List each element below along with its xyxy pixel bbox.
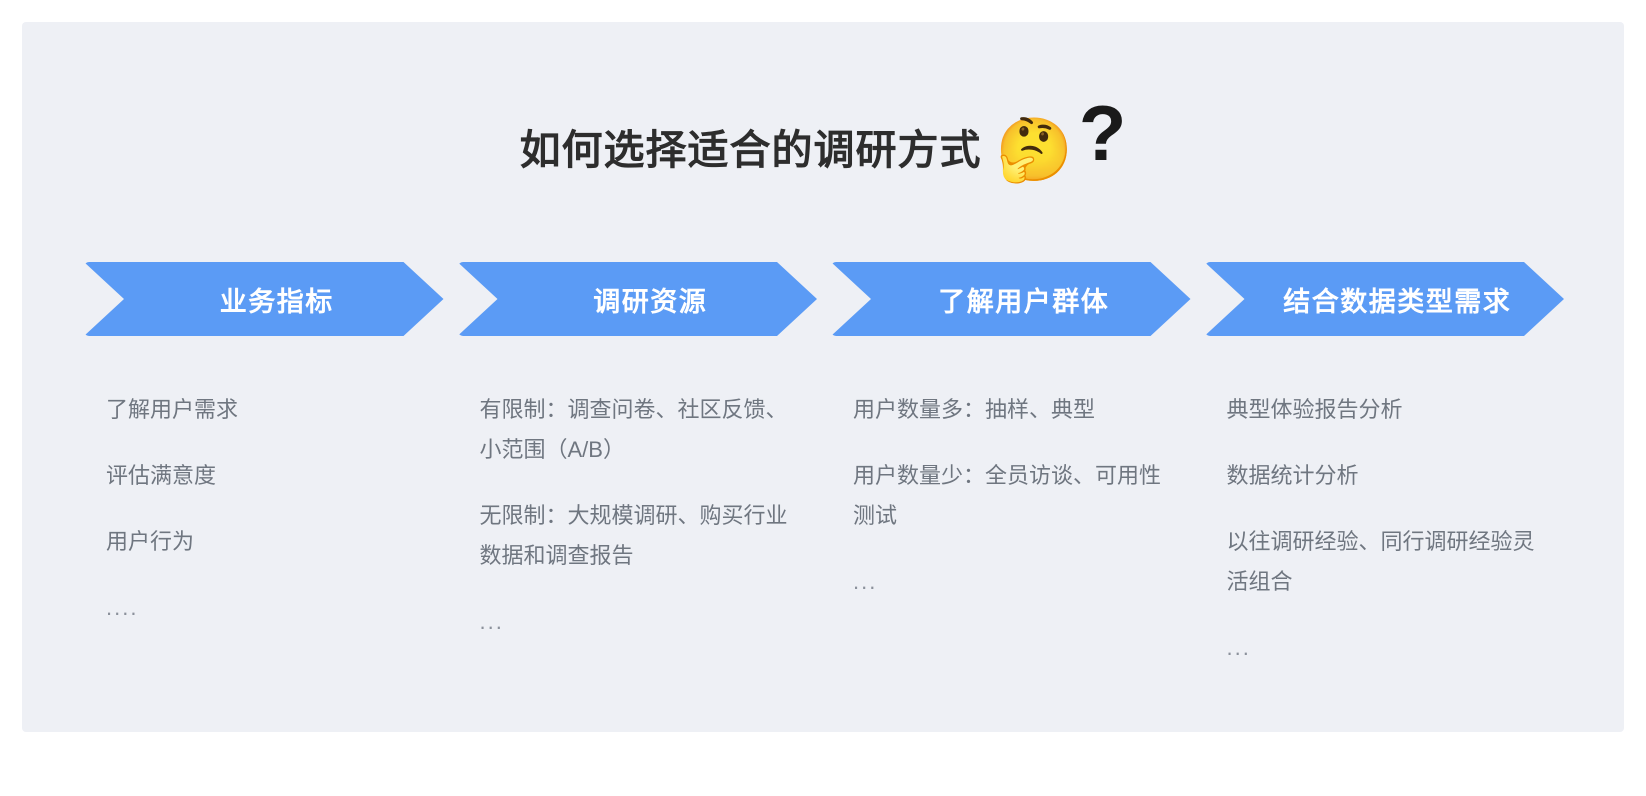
chevron-banner-label: 调研资源 (567, 280, 707, 319)
chevron-banner-label: 结合数据类型需求 (1257, 280, 1511, 319)
list-item: 用户行为 (106, 522, 426, 562)
list-item: 有限制：调查问卷、社区反馈、小范围（A/B） (480, 390, 800, 470)
list-item-ellipsis: ... (1227, 628, 1547, 668)
list-item: 数据统计分析 (1227, 456, 1547, 496)
list-item: 用户数量多：抽样、典型 (853, 390, 1173, 430)
list-item: 以往调研经验、同行调研经验灵活组合 (1227, 522, 1547, 602)
list-item-ellipsis: ... (480, 602, 800, 642)
content-column-business-metrics: 了解用户需求 评估满意度 用户行为 .... (84, 390, 444, 710)
list-item: 典型体验报告分析 (1227, 390, 1547, 430)
list-item: 用户数量少：全员访谈、可用性测试 (853, 456, 1173, 536)
chevron-banner-label: 了解用户群体 (912, 280, 1109, 319)
chevron-banner-business-metrics[interactable]: 业务指标 (84, 262, 444, 336)
chevron-banner-data-type-needs[interactable]: 结合数据类型需求 (1205, 262, 1565, 336)
list-item-ellipsis: .... (106, 588, 426, 628)
page-title: 如何选择适合的调研方式 🤔 ? (22, 118, 1624, 182)
page-title-text: 如何选择适合的调研方式 (520, 130, 982, 171)
question-mark-icon: ? (1079, 94, 1127, 172)
chevron-banner-understand-users[interactable]: 了解用户群体 (831, 262, 1191, 336)
list-item: 了解用户需求 (106, 390, 426, 430)
content-column-research-resources: 有限制：调查问卷、社区反馈、小范围（A/B） 无限制：大规模调研、购买行业数据和… (458, 390, 818, 710)
list-item: 无限制：大规模调研、购买行业数据和调查报告 (480, 496, 800, 576)
slide-canvas: 如何选择适合的调研方式 🤔 ? 业务指标 调研资源 了解用户群体 结合数据类型需… (22, 22, 1624, 732)
list-item-ellipsis: ... (853, 562, 1173, 602)
chevron-banner-label: 业务指标 (194, 280, 334, 319)
chevron-banner-research-resources[interactable]: 调研资源 (458, 262, 818, 336)
list-item: 评估满意度 (106, 456, 426, 496)
content-column-understand-users: 用户数量多：抽样、典型 用户数量少：全员访谈、可用性测试 ... (831, 390, 1191, 710)
content-column-data-type-needs: 典型体验报告分析 数据统计分析 以往调研经验、同行调研经验灵活组合 ... (1205, 390, 1565, 710)
content-columns: 了解用户需求 评估满意度 用户行为 .... 有限制：调查问卷、社区反馈、小范围… (84, 390, 1564, 710)
chevron-banner-row: 业务指标 调研资源 了解用户群体 结合数据类型需求 (84, 262, 1564, 352)
thinking-face-emoji: 🤔 (996, 120, 1073, 182)
